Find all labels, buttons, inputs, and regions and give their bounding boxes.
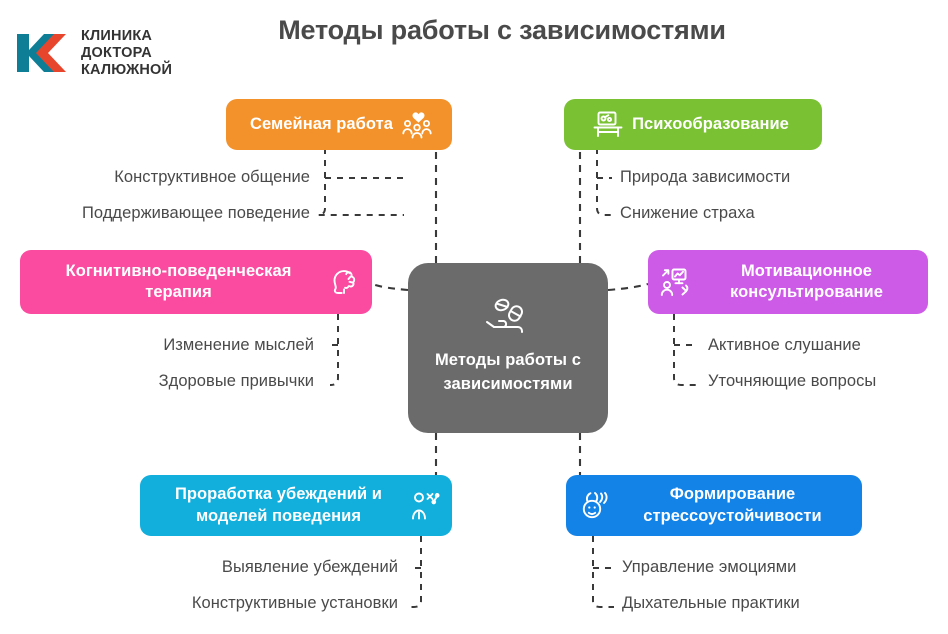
logo-line-3: КАЛЮЖНОЙ [81, 62, 172, 79]
wire-psychoeducation-leaves [597, 148, 612, 215]
person-percent-icon [410, 491, 440, 521]
wire-center-motivational [608, 284, 648, 290]
person-growth-chart-icon [660, 267, 692, 297]
presentation-board-icon [593, 111, 623, 139]
wire-beliefs-leaves [410, 536, 421, 607]
center-node[interactable]: Методы работы с зависимостями [408, 263, 608, 433]
hand-holding-pills-icon [482, 296, 534, 341]
wire-center-cbt [372, 284, 408, 290]
branch-node-motivational[interactable]: Мотивационное консультирование [648, 250, 928, 314]
wire-motivational-leaves [674, 314, 698, 385]
wire-resilience-leaves [593, 536, 614, 607]
leaf-family-1: Конструктивное общение [40, 168, 310, 187]
leaf-motivational-1: Активное слушание [708, 336, 861, 355]
leaf-motivational-2: Уточняющие вопросы [708, 372, 876, 391]
branch-label-family: Семейная работа [250, 114, 393, 135]
page-title: Методы работы с зависимостями [0, 15, 948, 46]
leaf-resilience-1: Управление эмоциями [622, 558, 796, 577]
wire-cbt-leaves [330, 314, 338, 385]
stressed-face-icon [578, 491, 610, 521]
head-brain-icon [330, 267, 360, 297]
branch-node-resilience[interactable]: Формирование стрессоустойчивости [566, 475, 862, 536]
leaf-family-2: Поддерживающее поведение [20, 204, 310, 223]
leaf-cbt-1: Изменение мыслей [48, 336, 314, 355]
center-node-label: Методы работы с зависимостями [422, 349, 594, 396]
branch-node-psychoeducation[interactable]: Психообразование [564, 99, 822, 150]
branch-node-family[interactable]: Семейная работа [226, 99, 452, 150]
leaf-cbt-2: Здоровые привычки [48, 372, 314, 391]
leaf-psychoeducation-1: Природа зависимости [620, 168, 790, 187]
family-heart-icon [402, 111, 432, 139]
branch-label-psychoeducation: Психообразование [632, 114, 789, 135]
mindmap-canvas: КЛИНИКА ДОКТОРА КАЛЮЖНОЙ Методы работы с… [0, 0, 948, 634]
leaf-psychoeducation-2: Снижение страха [620, 204, 755, 223]
branch-label-resilience: Формирование стрессоустойчивости [619, 484, 846, 526]
leaf-resilience-2: Дыхательные практики [622, 594, 800, 613]
leaf-beliefs-1: Выявление убеждений [110, 558, 398, 577]
leaf-beliefs-2: Конструктивные установки [110, 594, 398, 613]
branch-label-motivational: Мотивационное консультирование [701, 261, 912, 303]
logo-line-2: ДОКТОРА [81, 45, 172, 62]
branch-node-beliefs[interactable]: Проработка убеждений и моделей поведения [140, 475, 452, 536]
branch-label-cbt: Когнитивно-поведенческая терапия [36, 261, 321, 303]
wire-family-leaves [318, 148, 404, 215]
branch-node-cbt[interactable]: Когнитивно-поведенческая терапия [20, 250, 372, 314]
branch-label-beliefs: Проработка убеждений и моделей поведения [156, 484, 401, 526]
